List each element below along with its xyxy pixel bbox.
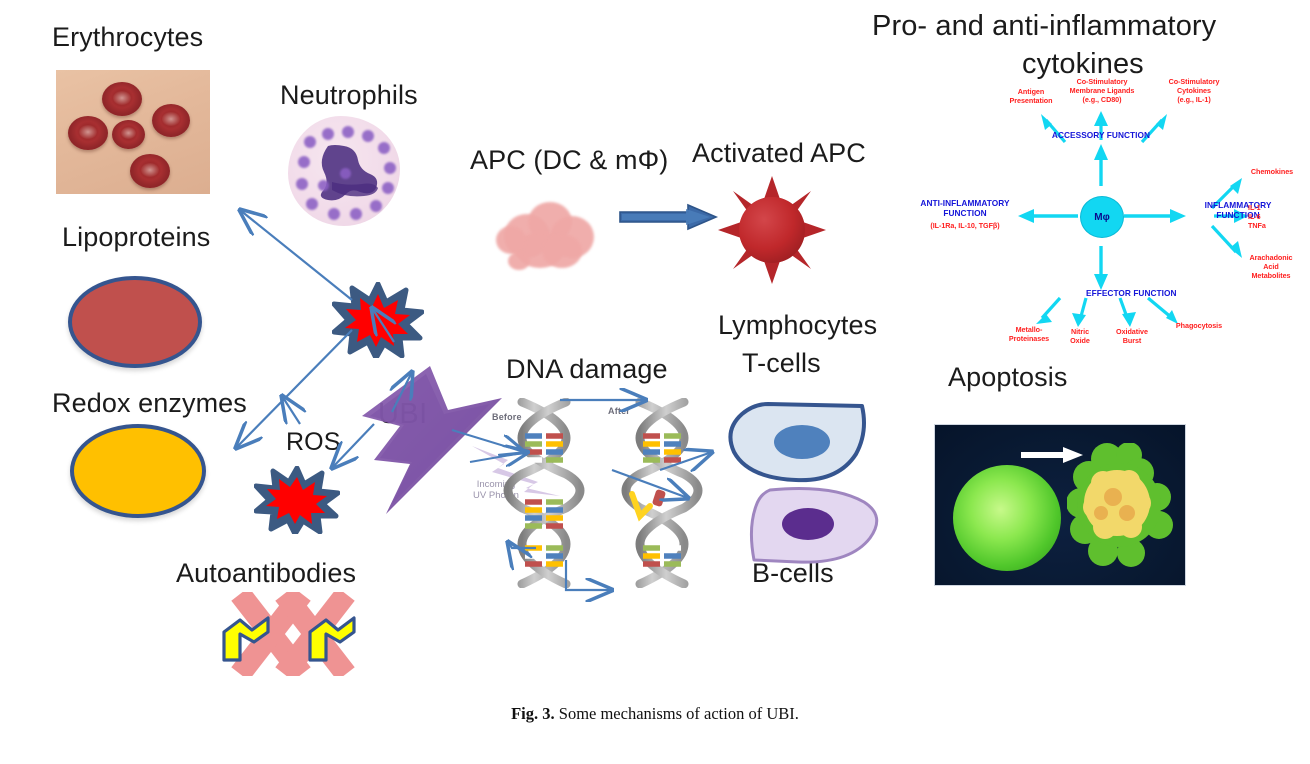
apoptosis-blebbing-cell (1067, 443, 1175, 571)
label-lipoproteins: Lipoproteins (62, 222, 210, 252)
apoptosis-arrow-icon (1021, 447, 1083, 463)
label-dna-damage: DNA damage (506, 354, 668, 384)
ros-burst-lower (254, 466, 340, 534)
b-cell (736, 484, 886, 566)
label-erythrocytes: Erythrocytes (52, 22, 203, 52)
label-cytokines-title-line2: cytokines (1022, 48, 1144, 80)
label-tcells: T-cells (742, 348, 821, 378)
apc-cell (494, 196, 600, 272)
cytokine-output-phagocytosis: Phagocytosis (1162, 322, 1236, 331)
apoptosis-image (934, 424, 1186, 586)
cytokine-effector-function: EFFECTOR FUNCTION (1086, 288, 1226, 298)
lipoprotein-shape (68, 276, 202, 368)
cytokine-output-chemokines: Chemokines (1240, 168, 1304, 177)
cytokine-anti-inflammatory-detail: (IL-1Ra, IL-10, TGFβ) (906, 222, 1024, 231)
ros-burst-upper (332, 282, 424, 358)
label-redox-enzymes: Redox enzymes (52, 388, 247, 418)
cytokine-center-node: Mφ (1080, 196, 1124, 238)
apoptosis-healthy-cell (953, 465, 1061, 571)
caption-text: Some mechanisms of action of UBI. (555, 704, 799, 723)
cytokine-output-nitric-oxide: Nitric Oxide (1056, 328, 1104, 346)
neutrophil-cell (288, 116, 400, 226)
cytokine-output-oxidative-burst: Oxidative Burst (1104, 328, 1160, 346)
cytokine-output-metalloproteinases: Metallo- Proteinases (996, 326, 1062, 344)
arrow-ros-lower-up (282, 396, 300, 424)
arrow-apc-to-activated-apc (620, 205, 716, 229)
activated-apc-cell (718, 176, 826, 284)
t-cell (726, 400, 874, 486)
label-ros: ROS (286, 428, 340, 456)
dna-helix-after (626, 402, 698, 584)
caption-prefix: Fig. 3. (511, 704, 555, 723)
label-apoptosis: Apoptosis (948, 362, 1067, 392)
dna-helix-group (500, 398, 714, 588)
label-activated-apc: Activated APC (692, 138, 866, 168)
dna-helix-before (508, 402, 580, 584)
label-cytokines-title-line1: Pro- and anti-inflammatory (872, 10, 1216, 42)
cytokine-output-costim-cytokines: Co-Stimulatory Cytokines (e.g., IL-1) (1148, 78, 1240, 105)
cytokine-output-arachadonic-acid: Arachadonic Acid Metabolites (1238, 254, 1304, 281)
redox-enzyme-shape (70, 424, 206, 518)
label-lymphocytes: Lymphocytes (718, 310, 877, 340)
label-autoantibodies: Autoantibodies (176, 558, 356, 588)
cytokine-anti-inflammatory-function: ANTI-INFLAMMATORY FUNCTION (906, 198, 1024, 219)
figure-caption: Fig. 3. Some mechanisms of action of UBI… (0, 704, 1310, 724)
cytokine-output-interleukins: IL-1 IL-6 TNFa (1248, 204, 1296, 231)
label-apc: APC (DC & mΦ) (470, 145, 668, 175)
erythrocytes-image (56, 70, 210, 194)
label-neutrophils: Neutrophils (280, 80, 418, 110)
cytokine-output-costim-ligands: Co-Stimulatory Membrane Ligands (e.g., C… (1050, 78, 1154, 105)
cytokine-network-diagram: Mφ ACCESSORY FUNCTION EFFECTOR FUNCTION … (900, 86, 1304, 348)
cytokine-accessory-function: ACCESSORY FUNCTION (1026, 130, 1176, 140)
autoantibodies-shape (206, 592, 380, 676)
figure-canvas: Erythrocytes Neutrophils Lipoproteins Re… (0, 0, 1310, 764)
